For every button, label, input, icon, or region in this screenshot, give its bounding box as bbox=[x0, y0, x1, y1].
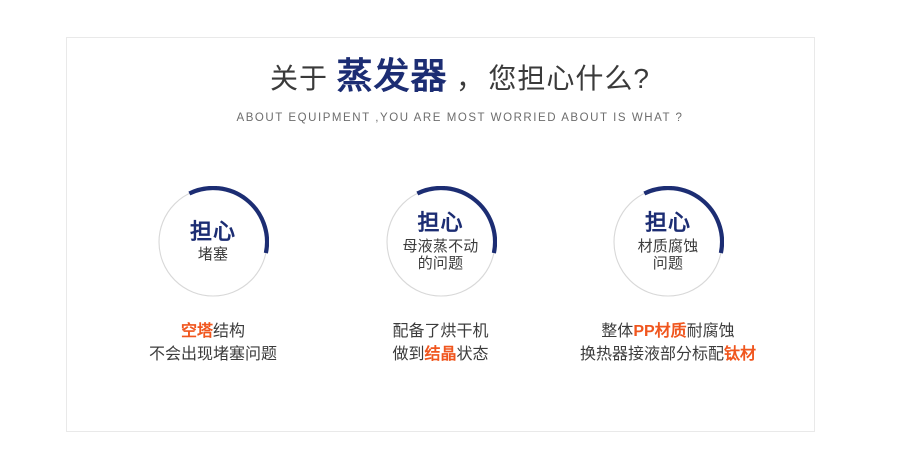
concern-body-3: 材质腐蚀 问题 bbox=[638, 238, 699, 273]
feature-caption-3: 整体PP材质耐腐蚀换热器接液部分标配钛材 bbox=[580, 320, 756, 366]
caption-line: 空塔结构 bbox=[149, 320, 277, 343]
caption-highlight: PP材质 bbox=[633, 323, 686, 340]
concern-circle-2: 担心 母液蒸不动 的问题 bbox=[385, 186, 497, 298]
caption-text: 不会出现堵塞问题 bbox=[149, 346, 277, 363]
caption-text: 换热器接液部分标配 bbox=[580, 346, 724, 363]
feature-column-2: 担心 母液蒸不动 的问题 配备了烘干机做到结晶状态 bbox=[328, 186, 554, 366]
feature-caption-1: 空塔结构不会出现堵塞问题 bbox=[149, 320, 277, 366]
concern-body-2: 母液蒸不动 的问题 bbox=[402, 238, 478, 273]
title-suffix: 您担心什么? bbox=[488, 63, 650, 94]
concern-head-1: 担心 bbox=[190, 220, 236, 245]
page-title: 关于 蒸发器 ， 您担心什么? bbox=[0, 58, 920, 100]
caption-highlight: 结晶 bbox=[424, 346, 456, 363]
caption-line: 换热器接液部分标配钛材 bbox=[580, 343, 756, 366]
caption-text: 状态 bbox=[457, 346, 489, 363]
feature-columns: 担心 堵塞 空塔结构不会出现堵塞问题 担心 母液蒸不动 的问题 配备了烘干机做到… bbox=[66, 186, 815, 366]
title-comma: ， bbox=[456, 63, 484, 94]
concern-circle-3-text: 担心 材质腐蚀 问题 bbox=[612, 186, 724, 298]
concern-circle-3: 担心 材质腐蚀 问题 bbox=[612, 186, 724, 298]
caption-line: 配备了烘干机 bbox=[392, 320, 488, 343]
caption-text: 整体 bbox=[601, 323, 633, 340]
page-heading: 关于 蒸发器 ， 您担心什么? ABOUT EQUIPMENT ,YOU ARE… bbox=[0, 58, 920, 124]
caption-line: 不会出现堵塞问题 bbox=[149, 343, 277, 366]
concern-body-1: 堵塞 bbox=[198, 246, 228, 264]
caption-text: 配备了烘干机 bbox=[392, 323, 488, 340]
caption-line: 做到结晶状态 bbox=[392, 343, 488, 366]
title-prefix: 关于 bbox=[270, 63, 328, 94]
feature-caption-2: 配备了烘干机做到结晶状态 bbox=[392, 320, 488, 366]
caption-line: 整体PP材质耐腐蚀 bbox=[580, 320, 756, 343]
concern-circle-1: 担心 堵塞 bbox=[157, 186, 269, 298]
concern-circle-2-text: 担心 母液蒸不动 的问题 bbox=[385, 186, 497, 298]
title-accent: 蒸发器 bbox=[332, 55, 451, 96]
concern-circle-1-text: 担心 堵塞 bbox=[157, 186, 269, 298]
caption-text: 结构 bbox=[213, 323, 245, 340]
page-subtitle: ABOUT EQUIPMENT ,YOU ARE MOST WORRIED AB… bbox=[0, 112, 920, 124]
caption-text: 耐腐蚀 bbox=[687, 323, 735, 340]
concern-head-2: 担心 bbox=[417, 211, 463, 236]
feature-column-1: 担心 堵塞 空塔结构不会出现堵塞问题 bbox=[100, 186, 326, 366]
caption-text: 做到 bbox=[392, 346, 424, 363]
concern-head-3: 担心 bbox=[645, 211, 691, 236]
feature-column-3: 担心 材质腐蚀 问题 整体PP材质耐腐蚀换热器接液部分标配钛材 bbox=[555, 186, 781, 366]
caption-highlight: 钛材 bbox=[724, 346, 756, 363]
caption-highlight: 空塔 bbox=[181, 323, 213, 340]
